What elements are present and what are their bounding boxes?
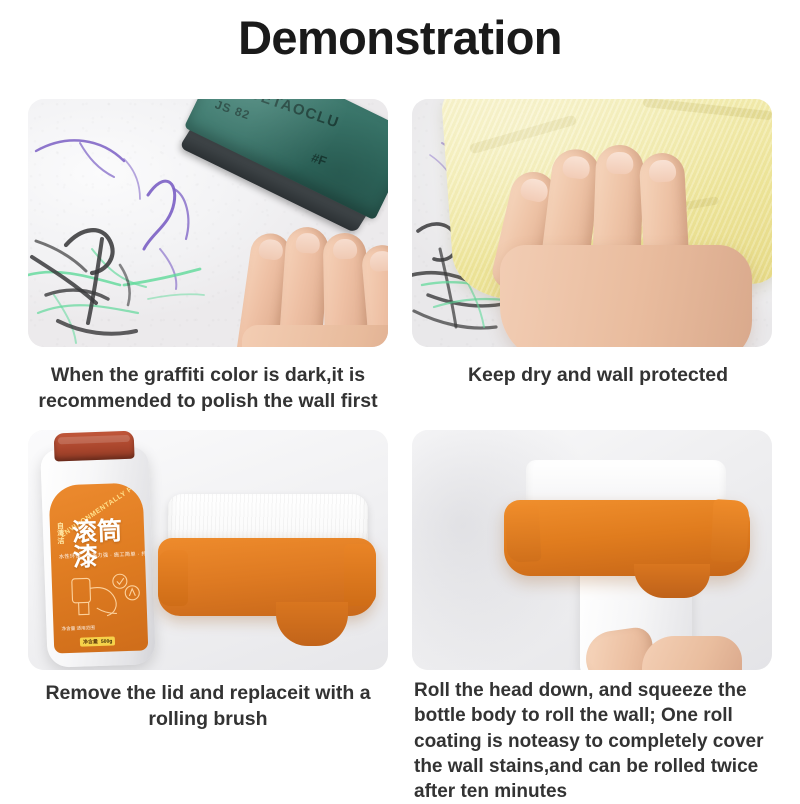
fingernail [562, 155, 591, 180]
step-2-image [412, 99, 772, 347]
step-4-caption: Roll the head down, and squeeze the bott… [414, 678, 790, 804]
fingernail [648, 159, 676, 182]
badge-weight: 500g [101, 638, 113, 644]
fingernail [369, 250, 388, 272]
rolling-on-wall-photo [412, 430, 772, 670]
roller-arm-right [344, 544, 376, 606]
step-1-image: DETAOCLU JS 82 #F LI [28, 99, 388, 347]
paint-bottle: ENVIRONMENTALLY FRIENDLY 自清洁 滚筒漆 水性环保 · … [40, 446, 156, 668]
badge-label: 净含量 [83, 638, 98, 646]
sponge-print-line-b: JS 82 [213, 99, 252, 122]
wiping-cloth-photo [412, 99, 772, 347]
fingernail [519, 176, 550, 204]
sanding-sponge-photo: DETAOCLU JS 82 #F LI [28, 99, 388, 347]
hand [242, 229, 388, 347]
fingernail [295, 232, 320, 254]
bottle-cap [54, 431, 135, 462]
label-weight-badge: 净含量 500g [80, 636, 116, 646]
step-3-image: ENVIRONMENTALLY FRIENDLY 自清洁 滚筒漆 水性环保 · … [28, 430, 388, 670]
bottle-label: ENVIRONMENTALLY FRIENDLY 自清洁 滚筒漆 水性环保 · … [48, 482, 148, 653]
roller-brush-head [158, 494, 376, 654]
roller-neck [634, 564, 710, 598]
sponge-print-line-a: DETAOCLU [247, 99, 342, 132]
step-1-caption: When the graffiti color is dark,it is re… [22, 362, 394, 415]
roller-arm-left [158, 550, 188, 606]
knuckles [642, 636, 742, 670]
palm [500, 245, 752, 347]
roller-brush-head [504, 460, 750, 600]
label-footer: 净含量 适用范围 [61, 623, 139, 633]
fingernail [332, 239, 356, 259]
roller-arm-right [710, 499, 749, 563]
palm [242, 325, 388, 347]
step-3-caption: Remove the lid and replaceit with a roll… [22, 680, 394, 733]
bottle-and-roller-photo: ENVIRONMENTALLY FRIENDLY 自清洁 滚筒漆 水性环保 · … [28, 430, 388, 670]
step-2-caption: Keep dry and wall protected [412, 362, 784, 388]
hand [498, 127, 768, 347]
label-illustration [57, 563, 141, 628]
roller-neck [276, 602, 348, 646]
fingernail [258, 238, 285, 261]
hand [584, 614, 742, 670]
roller-frame [504, 500, 750, 576]
label-tagline: 自清洁 [57, 523, 71, 545]
page-title: Demonstration [0, 12, 800, 64]
cloth-fold [643, 99, 772, 120]
fingernail [606, 152, 634, 175]
demonstration-infographic: Demonstration [0, 0, 800, 800]
step-4-image [412, 430, 772, 670]
roller-arm-left [505, 503, 542, 563]
sponge-print-line-c: #F [309, 150, 328, 169]
